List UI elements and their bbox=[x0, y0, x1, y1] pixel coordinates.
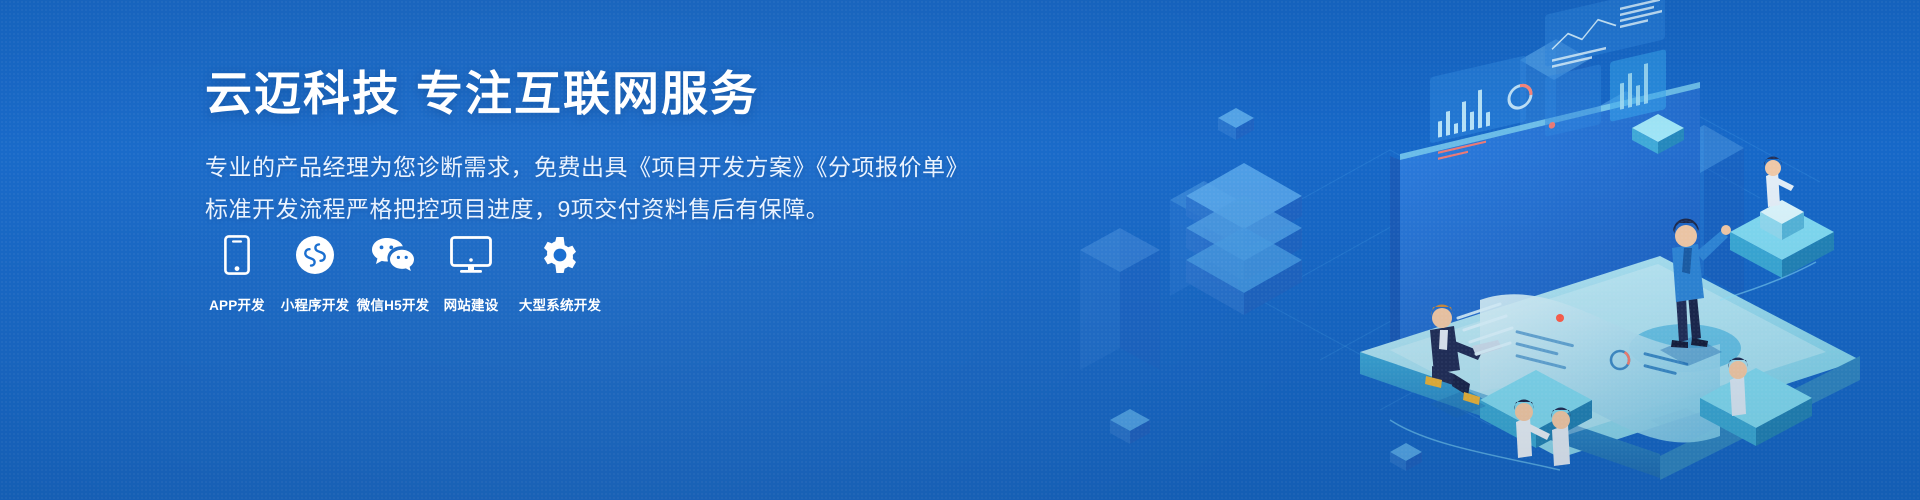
hero-banner: 云迈科技 专注互联网服务 专业的产品经理为您诊断需求，免费出具《项目开发方案》《… bbox=[0, 0, 1920, 500]
page-title: 云迈科技 专注互联网服务 bbox=[205, 66, 1025, 122]
service-item-website[interactable]: 网站建设 bbox=[434, 232, 508, 314]
service-label: 网站建设 bbox=[444, 294, 499, 314]
service-item-large-system[interactable]: 大型系统开发 bbox=[512, 232, 608, 314]
wechat-icon bbox=[370, 232, 416, 278]
service-label: 小程序开发 bbox=[281, 294, 350, 314]
subtitle-line-1: 专业的产品经理为您诊断需求，免费出具《项目开发方案》《分项报价单》 bbox=[205, 148, 1025, 188]
service-label: 微信H5开发 bbox=[357, 294, 429, 314]
service-item-wechat-h5[interactable]: 微信H5开发 bbox=[356, 232, 430, 314]
service-item-app[interactable]: APP开发 bbox=[200, 232, 274, 314]
mini-program-icon bbox=[295, 232, 335, 278]
monitor-icon bbox=[450, 232, 492, 278]
service-label: 大型系统开发 bbox=[519, 294, 601, 314]
hero-content: 云迈科技 专注互联网服务 专业的产品经理为您诊断需求，免费出具《项目开发方案》《… bbox=[205, 66, 1025, 229]
mobile-phone-icon bbox=[224, 232, 250, 278]
service-label: APP开发 bbox=[209, 294, 265, 314]
service-list: APP开发 小程序开发 bbox=[200, 232, 612, 314]
illustration-container bbox=[960, 0, 1920, 500]
subtitle-line-2: 标准开发流程严格把控项目进度，9项交付资料售后有保障。 bbox=[205, 190, 1025, 230]
service-item-miniprogram[interactable]: 小程序开发 bbox=[278, 232, 352, 314]
gear-icon bbox=[540, 232, 580, 278]
isometric-tech-illustration bbox=[960, 0, 1920, 500]
hero-subtitle: 专业的产品经理为您诊断需求，免费出具《项目开发方案》《分项报价单》 标准开发流程… bbox=[205, 148, 1025, 229]
